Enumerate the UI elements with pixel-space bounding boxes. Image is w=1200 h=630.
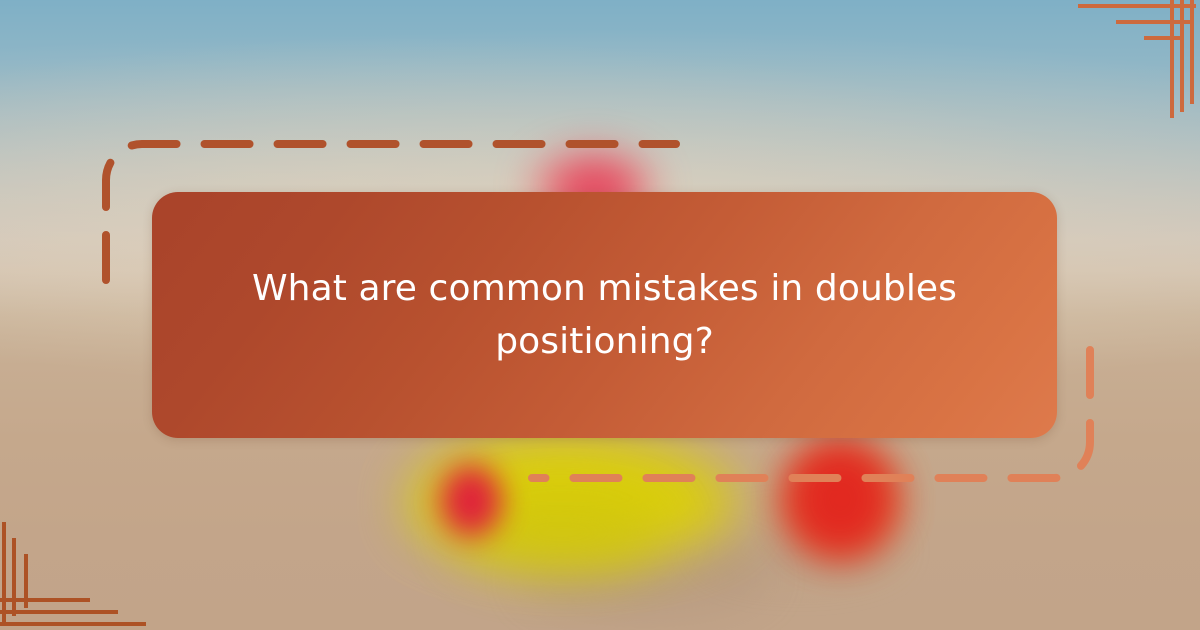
- question-card: What are common mistakes in doubles posi…: [152, 192, 1057, 438]
- question-text: What are common mistakes in doubles posi…: [224, 262, 985, 369]
- background-red-object-left: [440, 465, 502, 537]
- background-red-object-right: [782, 438, 898, 560]
- poster-canvas: What are common mistakes in doubles posi…: [0, 0, 1200, 630]
